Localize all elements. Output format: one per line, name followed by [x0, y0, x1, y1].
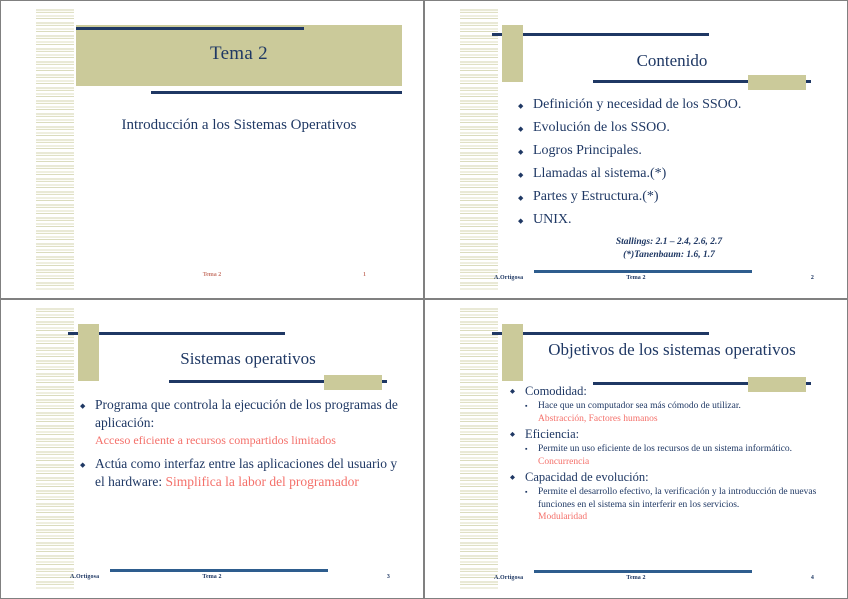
- sub-bullet-text: Permite un uso eficiente de los recursos…: [538, 444, 792, 454]
- bullet-text: Logros Principales.: [533, 143, 642, 158]
- bullet-text: Partes y Estructura.(*): [533, 189, 659, 204]
- sub-list-item: Permite el desarrollo efectivo, la verif…: [525, 486, 828, 524]
- sub-list-item: Hace que un computador sea más cómodo de…: [525, 400, 828, 425]
- sub-bullet-list: Hace que un computador sea más cómodo de…: [525, 400, 828, 425]
- footer-center-label: Tema 2: [434, 275, 838, 281]
- reference-block: Stallings: 2.1 – 2.4, 2.6, 2.7 (*)Tanenb…: [544, 236, 794, 262]
- sub-bullet-list: Permite el desarrollo efectivo, la verif…: [525, 486, 828, 524]
- header-rule-top: [492, 332, 709, 335]
- bullet-text: Capacidad de evolución:: [525, 470, 649, 484]
- slide-title: Objetivos de los sistemas operativos: [522, 339, 822, 360]
- slide-handout-sheet: Tema 2 Introducción a los Sistemas Opera…: [0, 0, 848, 599]
- slide-1-cover[interactable]: Tema 2 Introducción a los Sistemas Opera…: [0, 0, 424, 299]
- bullet-text: Comodidad:: [525, 384, 587, 398]
- list-item: Llamadas al sistema.(*): [518, 164, 830, 184]
- slide-body: Definición y necesidad de los SSOO. Evol…: [518, 95, 830, 233]
- decorative-striped-band: [36, 9, 74, 290]
- bullet-text: Definición y necesidad de los SSOO.: [533, 97, 741, 112]
- list-item: Eficiencia: Permite un uso eficiente de …: [510, 426, 828, 468]
- list-item: UNIX.: [518, 210, 830, 230]
- sub-bullet-list: Permite un uso eficiente de los recursos…: [525, 443, 828, 468]
- list-item: Logros Principales.: [518, 141, 830, 161]
- bullet-list: Definición y necesidad de los SSOO. Evol…: [518, 95, 830, 230]
- bullet-text: Programa que controla la ejecución de lo…: [95, 397, 398, 430]
- list-item: Programa que controla la ejecución de lo…: [80, 396, 400, 449]
- cover-rule-bottom: [151, 91, 402, 94]
- bullet-text: Eficiencia:: [525, 427, 579, 441]
- header-block-right: [748, 75, 806, 90]
- header-block-right: [324, 375, 382, 390]
- list-item: Evolución de los SSOO.: [518, 118, 830, 138]
- list-item: Capacidad de evolución: Permite el desar…: [510, 469, 828, 524]
- cover-rule-top: [76, 27, 304, 30]
- bullet-text: Llamadas al sistema.(*): [533, 166, 666, 181]
- footer-rule: [110, 569, 328, 572]
- header-block-left: [78, 324, 99, 381]
- footer-rule: [534, 270, 752, 273]
- slide-3-sistemas-operativos[interactable]: Sistemas operativos Programa que control…: [0, 299, 424, 599]
- bullet-text: UNIX.: [533, 212, 572, 227]
- sub-bullet-note-highlight: Abstracción, Factores humanos: [538, 413, 828, 426]
- sub-bullet-text: Hace que un computador sea más cómodo de…: [538, 401, 741, 411]
- header-rule-top: [68, 332, 285, 335]
- cover-title: Tema 2: [76, 43, 402, 65]
- decorative-striped-band: [36, 308, 74, 590]
- reference-line: (*)Tanenbaum: 1.6, 1.7: [544, 249, 794, 262]
- header-rule-top: [492, 33, 709, 36]
- bullet-list: Programa que controla la ejecución de lo…: [80, 396, 400, 491]
- list-item: Definición y necesidad de los SSOO.: [518, 95, 830, 115]
- list-item: Comodidad: Hace que un computador sea má…: [510, 383, 828, 425]
- slide-4-objetivos[interactable]: Objetivos de los sistemas operativos Com…: [424, 299, 848, 599]
- footer-page-number: 3: [387, 574, 390, 580]
- sub-bullet-note-highlight: Concurrencia: [538, 456, 828, 469]
- footer-page-number: 4: [811, 575, 814, 581]
- bullet-inline-highlight: Simplifica la labor del programador: [165, 474, 358, 489]
- bullet-text: Evolución de los SSOO.: [533, 120, 670, 135]
- footer-center-label: Tema 2: [434, 575, 838, 581]
- slide-title: Sistemas operativos: [98, 348, 398, 369]
- slide-2-contenido[interactable]: Contenido Definición y necesidad de los …: [424, 0, 848, 299]
- header-block-left: [502, 25, 523, 82]
- slide-title: Contenido: [522, 50, 822, 71]
- footer-center-label: Tema 2: [10, 272, 414, 278]
- slide-body: Comodidad: Hace que un computador sea má…: [510, 383, 828, 525]
- list-item: Actúa como interfaz entre las aplicacion…: [80, 455, 400, 491]
- sub-list-item: Permite un uso eficiente de los recursos…: [525, 443, 828, 468]
- bullet-list: Comodidad: Hace que un computador sea má…: [510, 383, 828, 524]
- header-block-left: [502, 324, 523, 381]
- cover-subtitle: Introducción a los Sistemas Operativos: [96, 115, 382, 135]
- reference-line: Stallings: 2.1 – 2.4, 2.6, 2.7: [544, 236, 794, 249]
- list-item: Partes y Estructura.(*): [518, 187, 830, 207]
- sub-bullet-note-highlight: Modularidad: [538, 511, 828, 524]
- decorative-striped-band: [460, 308, 498, 590]
- footer-page-number: 1: [363, 272, 366, 278]
- footer-rule: [534, 570, 752, 573]
- slide-body: Programa que controla la ejecución de lo…: [80, 396, 400, 497]
- sub-bullet-text: Permite el desarrollo efectivo, la verif…: [538, 487, 816, 510]
- footer-center-label: Tema 2: [10, 574, 414, 580]
- bullet-subtext-highlight: Acceso eficiente a recursos compartidos …: [95, 432, 400, 449]
- footer-page-number: 2: [811, 275, 814, 281]
- decorative-striped-band: [460, 9, 498, 290]
